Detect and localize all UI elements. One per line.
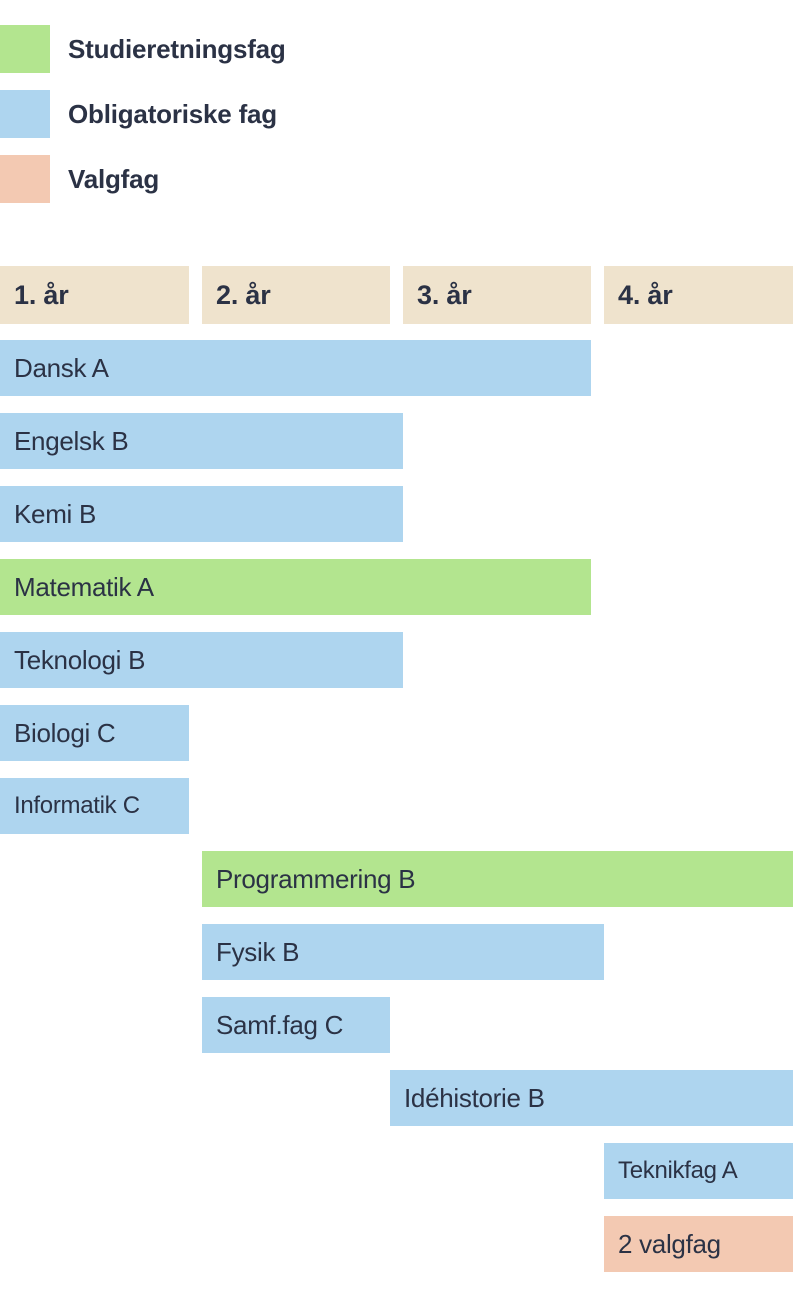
subject-bar: Matematik A bbox=[0, 559, 591, 615]
subject-bar-label: Engelsk B bbox=[14, 426, 128, 457]
subject-bar: Programmering B bbox=[202, 851, 793, 907]
legend-obligatoriske-fag: Obligatoriske fag bbox=[0, 90, 800, 138]
subject-bar: Engelsk B bbox=[0, 413, 403, 469]
subject-bar: Dansk A bbox=[0, 340, 591, 396]
legend-swatch-icon bbox=[0, 25, 50, 73]
subject-bar-label: Dansk A bbox=[14, 353, 109, 384]
legend-label: Studieretningsfag bbox=[68, 34, 286, 65]
subject-bar: Idéhistorie B bbox=[390, 1070, 793, 1126]
subject-bar-label: Teknikfag A bbox=[618, 1157, 737, 1185]
subject-bar-label: Informatik C bbox=[14, 792, 140, 820]
subject-bar-label: Matematik A bbox=[14, 572, 154, 603]
subject-bar-label: Samf.fag C bbox=[216, 1010, 343, 1041]
year-header-row: 1. år2. år3. år4. år bbox=[0, 266, 800, 324]
year-header-cell-1: 1. år bbox=[0, 266, 189, 324]
subject-bar-label: 2 valgfag bbox=[618, 1229, 721, 1260]
year-header-label: 2. år bbox=[216, 280, 271, 311]
subject-bar-label: Kemi B bbox=[14, 499, 96, 530]
subject-bar: 2 valgfag bbox=[604, 1216, 793, 1272]
year-header-label: 1. år bbox=[14, 280, 69, 311]
legend-swatch-icon bbox=[0, 90, 50, 138]
subject-bar: Samf.fag C bbox=[202, 997, 390, 1053]
subject-bar: Fysik B bbox=[202, 924, 604, 980]
subject-bar-label: Idéhistorie B bbox=[404, 1083, 545, 1114]
legend: StudieretningsfagObligatoriske fagValgfa… bbox=[0, 25, 800, 220]
legend-label: Obligatoriske fag bbox=[68, 99, 277, 130]
legend-studieretningsfag: Studieretningsfag bbox=[0, 25, 800, 73]
subject-bar: Biologi C bbox=[0, 705, 189, 761]
year-header-label: 3. år bbox=[417, 280, 472, 311]
subject-bar: Teknikfag A bbox=[604, 1143, 793, 1199]
subject-bar: Teknologi B bbox=[0, 632, 403, 688]
subject-bar: Kemi B bbox=[0, 486, 403, 542]
legend-swatch-icon bbox=[0, 155, 50, 203]
year-header-cell-4: 4. år bbox=[604, 266, 793, 324]
subject-bar-label: Biologi C bbox=[14, 718, 115, 749]
year-header-cell-2: 2. år bbox=[202, 266, 390, 324]
subject-bar: Informatik C bbox=[0, 778, 189, 834]
legend-label: Valgfag bbox=[68, 164, 159, 195]
year-header-label: 4. år bbox=[618, 280, 673, 311]
subject-bar-label: Programmering B bbox=[216, 864, 415, 895]
legend-valgfag: Valgfag bbox=[0, 155, 800, 203]
subject-bar-label: Teknologi B bbox=[14, 645, 145, 676]
year-header-cell-3: 3. år bbox=[403, 266, 591, 324]
subject-bar-label: Fysik B bbox=[216, 937, 299, 968]
